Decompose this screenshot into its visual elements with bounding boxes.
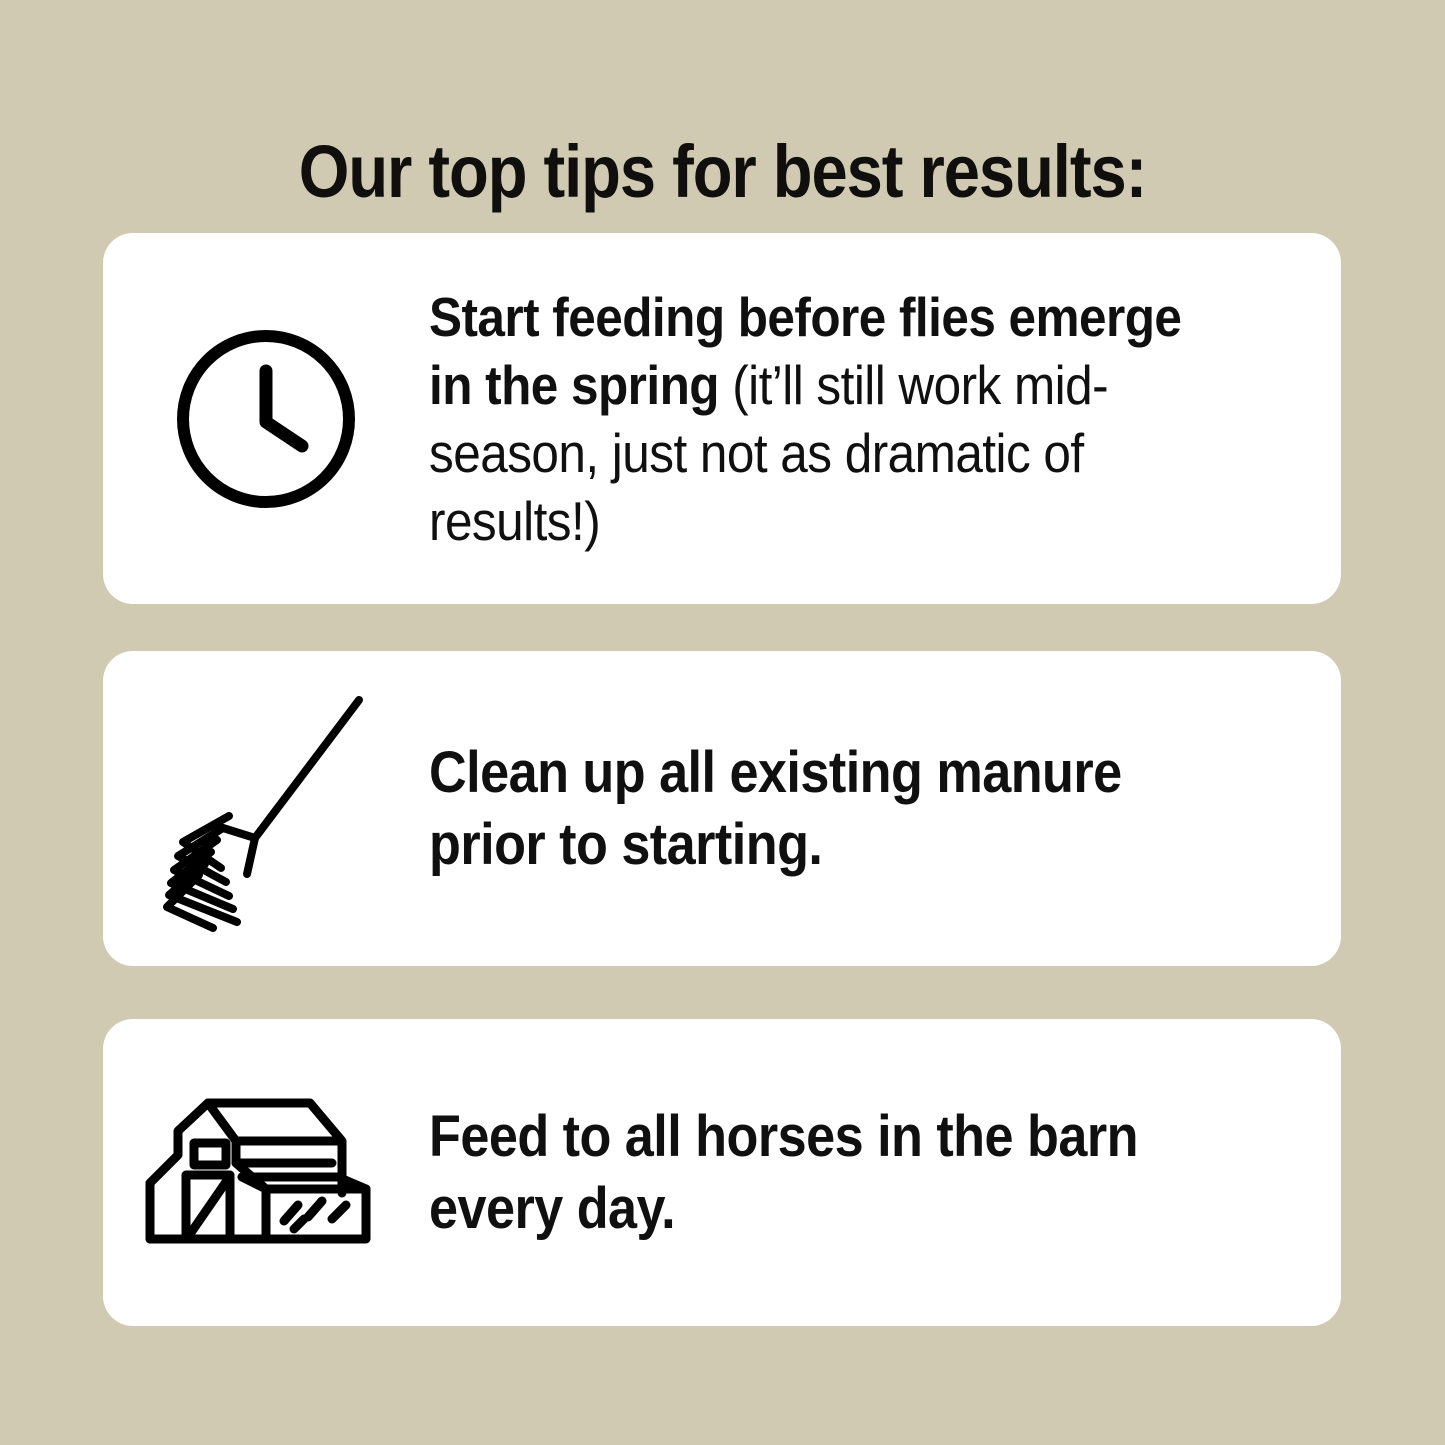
- tip-card-clean-manure: Clean up all existing manure prior to st…: [103, 651, 1341, 966]
- manure-fork-icon: [103, 684, 429, 934]
- clock-icon: [103, 324, 429, 514]
- tips-card-list: Start feeding before flies emerge in the…: [103, 233, 1341, 1326]
- tip-strong-text: Clean up all existing manure prior to st…: [429, 740, 1122, 877]
- tips-page: Our top tips for best results: Start fee…: [0, 0, 1445, 1445]
- tip-text: Clean up all existing manure prior to st…: [429, 737, 1250, 881]
- barn-icon: [103, 1093, 429, 1253]
- tip-text: Feed to all horses in the barn every day…: [429, 1101, 1250, 1245]
- tip-text: Start feeding before flies emerge in the…: [429, 283, 1250, 555]
- tip-strong-text: Feed to all horses in the barn every day…: [429, 1104, 1138, 1241]
- tip-card-feed-all-horses: Feed to all horses in the barn every day…: [103, 1019, 1341, 1326]
- tip-card-start-feeding: Start feeding before flies emerge in the…: [103, 233, 1341, 604]
- page-title: Our top tips for best results:: [87, 128, 1359, 216]
